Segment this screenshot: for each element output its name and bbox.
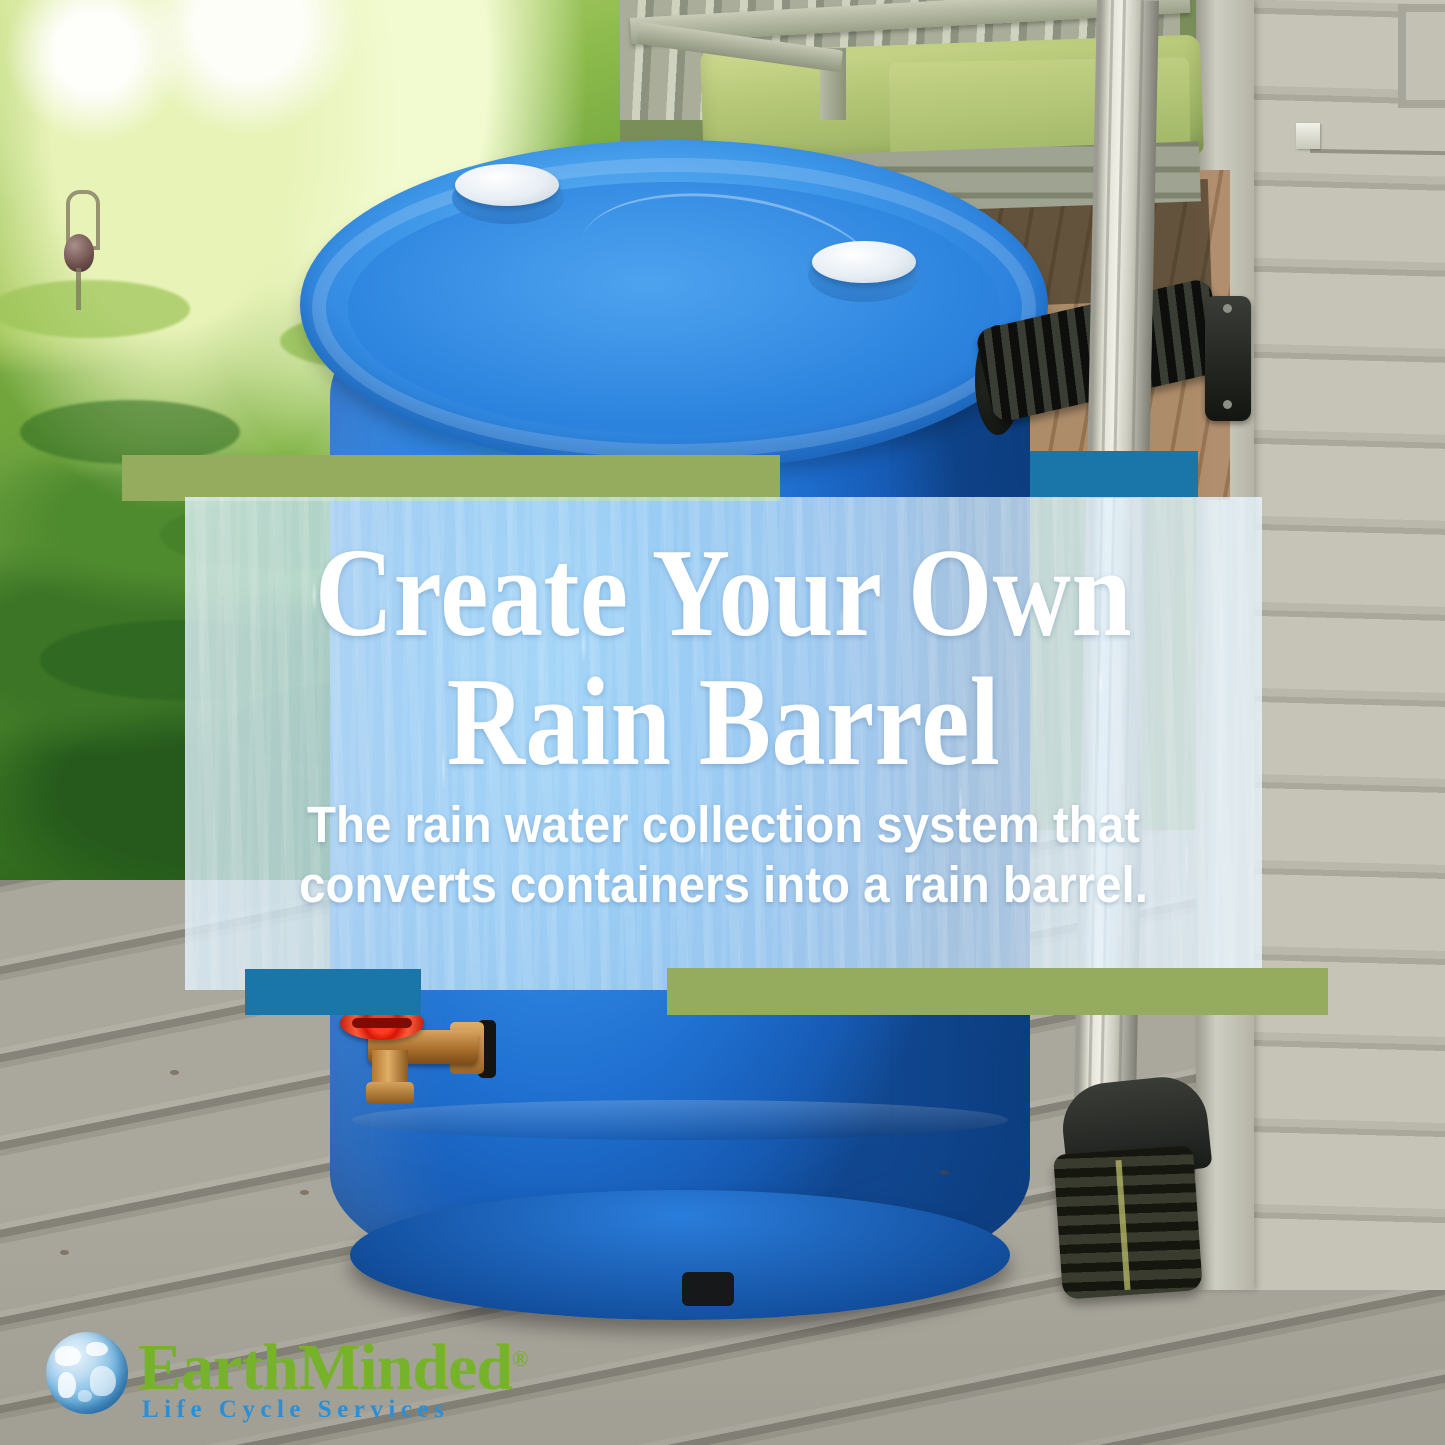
registered-mark: ® [512, 1346, 527, 1371]
page-subtitle: The rain water collection system that co… [251, 795, 1197, 915]
house-siding [1250, 0, 1445, 1290]
headline-line-2: Rain Barrel [260, 659, 1186, 788]
barrel-base [350, 1190, 1010, 1320]
accent-bar-green-bottom [667, 968, 1328, 1015]
logo-wordmark: EarthMinded® [138, 1330, 527, 1406]
barrel-cap-right [812, 241, 916, 283]
logo-brand-text: EarthMinded [138, 1331, 512, 1404]
barrel-bottom-plug [682, 1272, 734, 1306]
poster-canvas: Create Your Own Rain Barrel The rain wat… [0, 0, 1445, 1445]
garden-ornament-finial [62, 190, 96, 310]
hose-wall-bracket [1205, 296, 1251, 421]
accent-bar-blue-bottom [245, 969, 421, 1015]
logo-tagline: Life Cycle Services [142, 1396, 449, 1424]
subtitle-line-2: converts containers into a rain barrel. [251, 855, 1197, 915]
downspout-clip [1296, 123, 1320, 149]
barrel-cap-left [455, 164, 559, 206]
globe-icon [46, 1332, 128, 1414]
barrel-ring [352, 1100, 1008, 1140]
spigot-outlet [366, 1082, 414, 1104]
spigot-handle-spoke [352, 1018, 412, 1028]
door-panel [1398, 4, 1445, 108]
subtitle-line-1: The rain water collection system that [251, 795, 1197, 855]
headline-line-1: Create Your Own [260, 530, 1186, 659]
page-title: Create Your Own Rain Barrel [260, 530, 1186, 787]
accent-bar-blue-top [1030, 451, 1198, 498]
accent-bar-green-top [122, 455, 780, 501]
brand-logo: EarthMinded® Life Cycle Services [46, 1330, 446, 1426]
